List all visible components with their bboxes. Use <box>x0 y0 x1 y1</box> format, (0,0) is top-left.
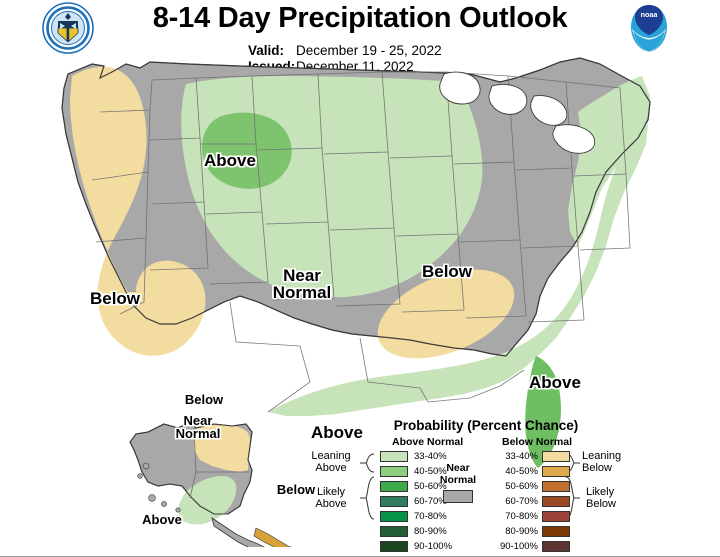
near-normal-line1: Near <box>283 266 321 285</box>
legend-swatch-near-normal <box>443 490 473 503</box>
map-label-near-normal-alaska: Near Normal <box>166 414 230 441</box>
legend-swatch-above-33-40 <box>380 451 408 462</box>
legend-swatch-below-90-100 <box>542 541 570 552</box>
near-normal-line2: Normal <box>273 283 332 302</box>
legend-near-normal-label: Near Normal <box>434 463 482 487</box>
legend-swatch-above-40-50 <box>380 466 408 477</box>
legend-leaning-above-label: Leaning Above <box>302 450 360 475</box>
likely-above-line2: Above <box>315 498 346 510</box>
legend-swatch-above-50-60 <box>380 481 408 492</box>
legend-swatch-above-70-80 <box>380 511 408 522</box>
likely-above-line1: Likely <box>317 486 345 498</box>
map-label-below-west-coast: Below <box>84 290 146 307</box>
legend: Probability (Percent Chance) Above Norma… <box>330 418 620 553</box>
legend-near-normal-line1: Near <box>446 462 469 474</box>
legend-swatch-below-40-50 <box>542 466 570 477</box>
us-department-of-commerce-seal <box>42 2 94 54</box>
legend-swatch-below-70-80 <box>542 511 570 522</box>
noaa-wordmark: noaa <box>641 10 659 19</box>
legend-title: Probability (Percent Chance) <box>386 418 586 433</box>
legend-pct-above-80-90: 80-90% <box>414 526 447 537</box>
legend-pct-below-70-80: 70-80% <box>494 511 538 522</box>
leaning-above-line2: Above <box>315 462 346 474</box>
map-label-above-montana: Above <box>200 152 260 169</box>
conus-layer <box>62 58 650 468</box>
legend-pct-below-80-90: 80-90% <box>494 526 538 537</box>
legend-pct-below-60-70: 60-70% <box>494 496 538 507</box>
legend-swatch-above-80-90 <box>380 526 408 537</box>
ak-near-normal-line2: Normal <box>176 426 221 441</box>
legend-likely-below-label: Likely Below <box>586 486 644 511</box>
leaning-below-line2: Below <box>582 462 612 474</box>
likely-below-line2: Below <box>586 498 616 510</box>
legend-swatch-below-60-70 <box>542 496 570 507</box>
legend-pct-above-33-40: 33-40% <box>414 451 447 462</box>
noaa-logo: noaa <box>625 2 673 54</box>
legend-pct-below-90-100: 90-100% <box>490 541 538 552</box>
legend-swatch-below-80-90 <box>542 526 570 537</box>
legend-swatch-above-90-100 <box>380 541 408 552</box>
page-title: 8-14 Day Precipitation Outlook <box>110 2 610 35</box>
legend-pct-below-33-40: 33-40% <box>494 451 538 462</box>
legend-likely-above-label: Likely Above <box>302 486 360 511</box>
legend-swatch-below-50-60 <box>542 481 570 492</box>
map-label-below-ohio-valley: Below <box>416 263 478 280</box>
map-label-above-florida: Above <box>524 374 586 391</box>
outlook-map-frame: 8-14 Day Precipitation Outlook Valid:Dec… <box>0 0 720 557</box>
legend-pct-above-90-100: 90-100% <box>414 541 452 552</box>
legend-pct-above-70-80: 70-80% <box>414 511 447 522</box>
likely-below-line1: Likely <box>586 486 614 498</box>
aleutian-below-normal-tan <box>254 528 320 547</box>
map-label-below-alaska-north: Below <box>180 393 228 406</box>
legend-swatch-above-60-70 <box>380 496 408 507</box>
legend-leaning-below-label: Leaning Below <box>582 450 640 475</box>
legend-pct-above-60-70: 60-70% <box>414 496 447 507</box>
map-label-near-normal-plains: Near Normal <box>266 267 338 302</box>
legend-near-normal-line2: Normal <box>440 474 476 486</box>
leaning-above-line1: Leaning <box>311 450 350 462</box>
legend-pct-below-40-50: 40-50% <box>494 466 538 477</box>
leaning-below-line1: Leaning <box>582 450 621 462</box>
legend-swatch-below-33-40 <box>542 451 570 462</box>
map-label-above-alaska-panhandle: Above <box>136 513 188 526</box>
legend-pct-below-50-60: 50-60% <box>494 481 538 492</box>
